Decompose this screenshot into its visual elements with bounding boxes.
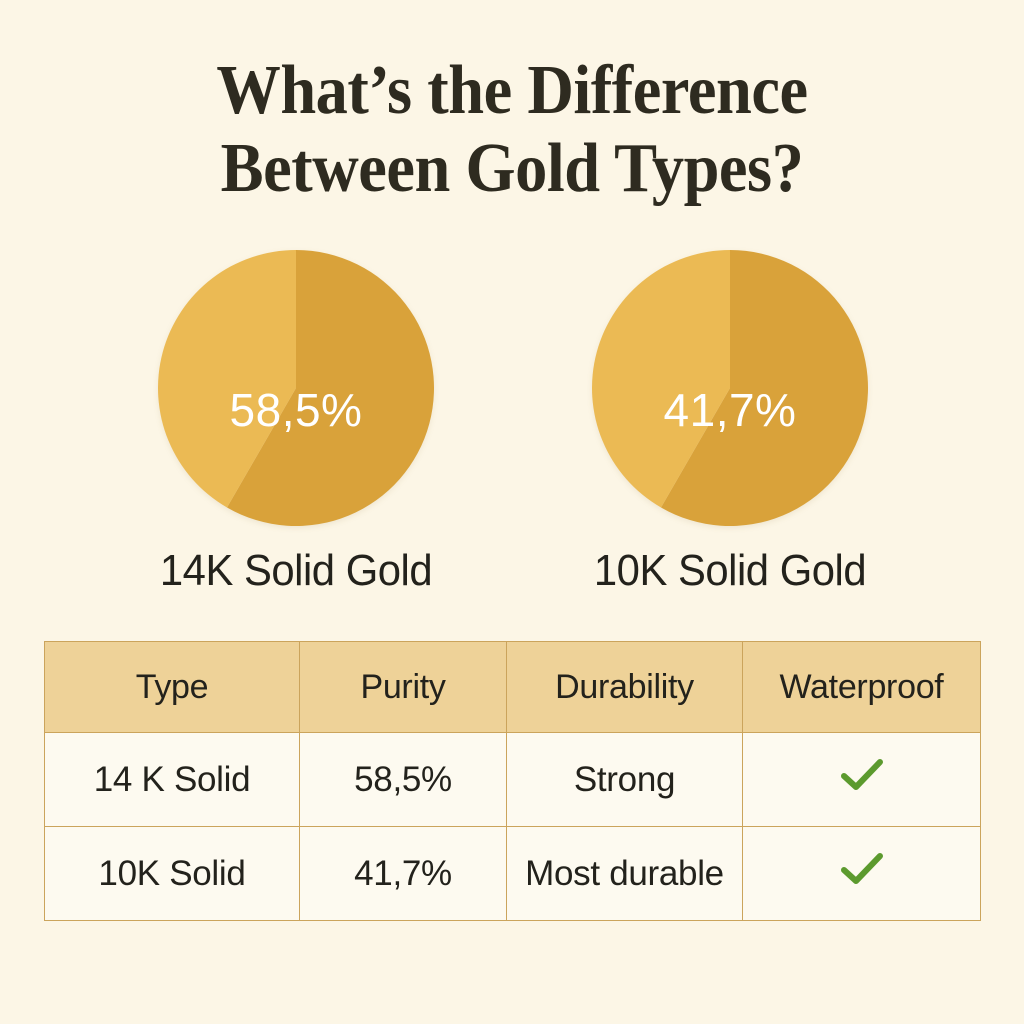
page-title-line-1: What’s the Difference <box>41 52 983 130</box>
pie-caption-10k: 10K Solid Gold <box>531 546 930 596</box>
cell-type: 14 K Solid <box>45 733 300 827</box>
table-row: 10K Solid 41,7% Most durable <box>45 827 981 921</box>
table-header-row: Type Purity Durability Waterproof <box>45 642 981 733</box>
table-row: 14 K Solid 58,5% Strong <box>45 733 981 827</box>
cell-purity: 41,7% <box>300 827 507 921</box>
infographic-root: What’s the Difference Between Gold Types… <box>0 0 1024 1024</box>
cell-type: 10K Solid <box>45 827 300 921</box>
table-header-purity: Purity <box>300 642 507 733</box>
table-header-waterproof: Waterproof <box>743 642 981 733</box>
pie-caption-14k: 14K Solid Gold <box>97 546 496 596</box>
page-title-line-2: Between Gold Types? <box>41 130 983 208</box>
pie-chart-group: 58,5% 14K Solid Gold 41,7% 10K Solid Gol… <box>0 248 1024 608</box>
cell-purity: 58,5% <box>300 733 507 827</box>
page-title: What’s the Difference Between Gold Types… <box>41 52 983 209</box>
cell-durability: Most durable <box>507 827 743 921</box>
pie-value-label-10k: 41,7% <box>664 384 797 436</box>
pie-value-label-14k: 58,5% <box>230 384 363 436</box>
pie-chart-10k-block: 41,7% 10K Solid Gold <box>520 248 940 596</box>
cell-durability: Strong <box>507 733 743 827</box>
check-icon <box>840 851 884 887</box>
pie-chart-14k: 58,5% <box>156 248 436 528</box>
table-header-type: Type <box>45 642 300 733</box>
cell-waterproof <box>743 733 981 827</box>
table-header-durability: Durability <box>507 642 743 733</box>
comparison-table: Type Purity Durability Waterproof 14 K S… <box>44 641 981 921</box>
comparison-table-wrap: Type Purity Durability Waterproof 14 K S… <box>44 641 980 921</box>
cell-waterproof <box>743 827 981 921</box>
check-icon <box>840 757 884 793</box>
pie-chart-14k-block: 58,5% 14K Solid Gold <box>86 248 506 596</box>
pie-chart-10k: 41,7% <box>590 248 870 528</box>
